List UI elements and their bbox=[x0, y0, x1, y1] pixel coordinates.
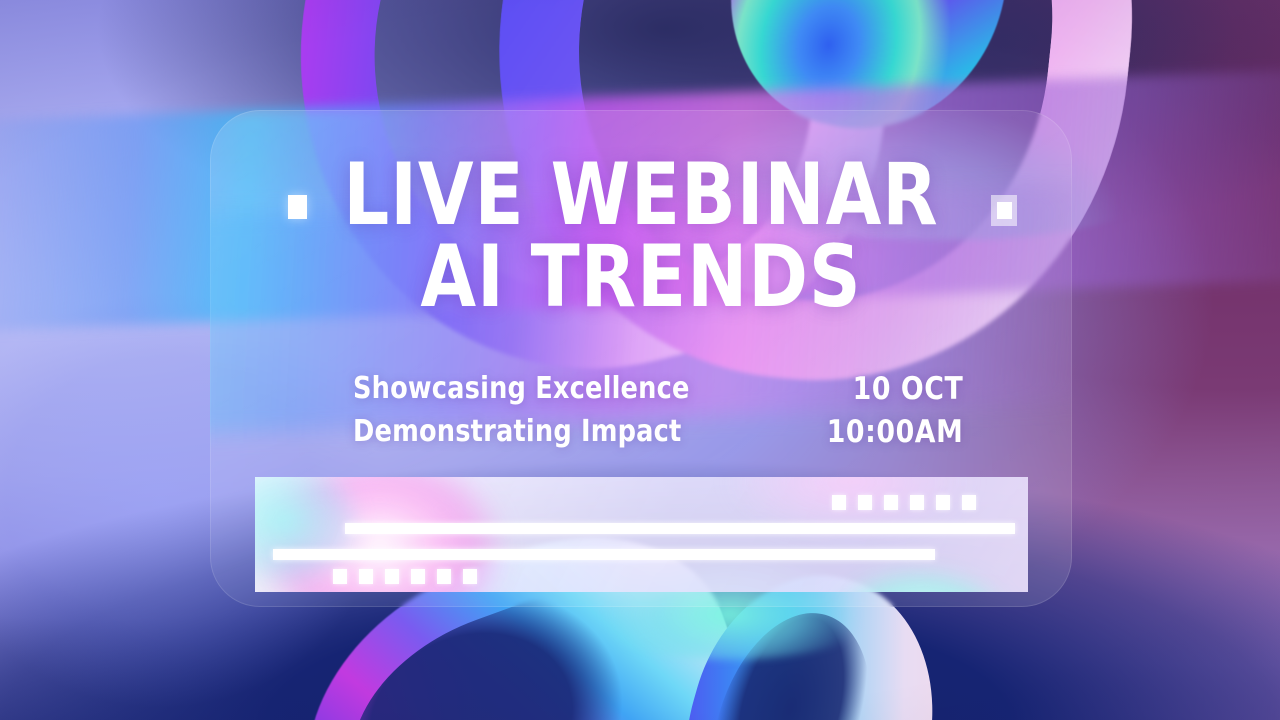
square-dot bbox=[832, 495, 846, 510]
dot-row-top bbox=[832, 495, 976, 510]
square-marker-icon-left bbox=[288, 195, 307, 219]
square-dot bbox=[962, 495, 976, 510]
subtitle-text: Showcasing Excellence Demonstrating Impa… bbox=[353, 368, 690, 453]
dot-row-bottom bbox=[333, 569, 477, 584]
bottom-panel bbox=[255, 477, 1028, 592]
glass-card: LIVE WEBINAR AI TRENDS Showcasing Excell… bbox=[210, 110, 1072, 607]
schedule-date: 10 OCT bbox=[826, 368, 963, 411]
square-dot bbox=[463, 569, 477, 584]
square-dot bbox=[333, 569, 347, 584]
panel-bar-lower bbox=[273, 549, 935, 560]
headline-line-2: AI TRENDS bbox=[240, 240, 1042, 316]
square-dot bbox=[411, 569, 425, 584]
subtitle-row: Showcasing Excellence Demonstrating Impa… bbox=[353, 368, 963, 455]
square-dot bbox=[884, 495, 898, 510]
schedule-text: 10 OCT 10:00AM bbox=[826, 368, 963, 455]
headline-line-1: LIVE WEBINAR bbox=[240, 158, 1042, 234]
square-dot bbox=[437, 569, 451, 584]
square-dot bbox=[858, 495, 872, 510]
webinar-poster: LIVE WEBINAR AI TRENDS Showcasing Excell… bbox=[0, 0, 1280, 720]
nested-square-marker-icon-right bbox=[991, 195, 1017, 226]
square-dot bbox=[910, 495, 924, 510]
panel-bar-upper bbox=[345, 523, 1015, 534]
subtitle-line-1: Showcasing Excellence bbox=[353, 368, 690, 411]
square-dot bbox=[936, 495, 950, 510]
subtitle-line-2: Demonstrating Impact bbox=[353, 411, 690, 454]
square-dot bbox=[385, 569, 399, 584]
square-dot bbox=[359, 569, 373, 584]
headline-block: LIVE WEBINAR AI TRENDS bbox=[210, 158, 1072, 315]
nested-square-inner bbox=[997, 202, 1012, 219]
schedule-time: 10:00AM bbox=[826, 411, 963, 454]
panel-glow-pink-right bbox=[685, 477, 1015, 557]
